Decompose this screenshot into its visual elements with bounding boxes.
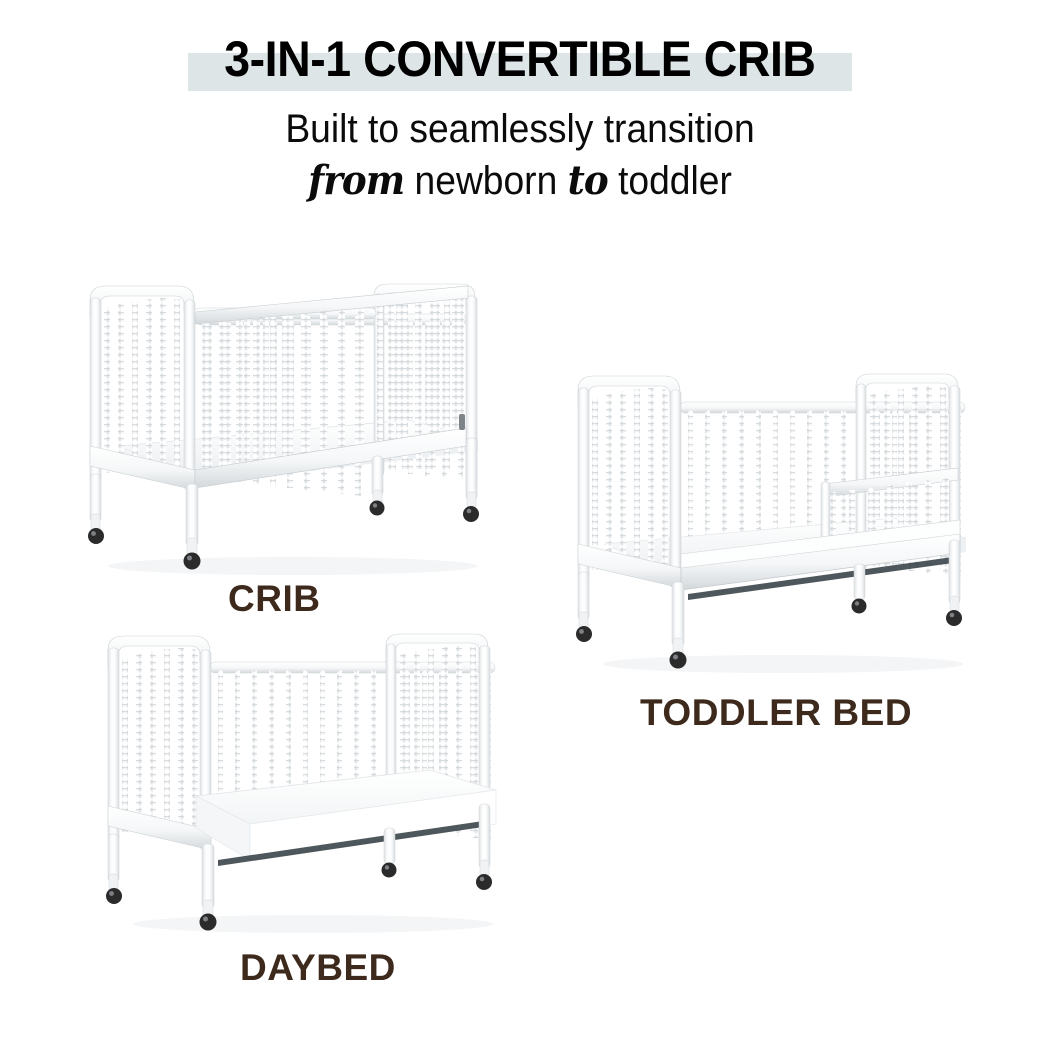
- page-title: 3-IN-1 CONVERTIBLE CRIB: [224, 34, 815, 84]
- product-showcase: CRIB: [0, 0, 1040, 1040]
- caster-wheel: [88, 528, 104, 544]
- product-image-toddler-bed: [568, 368, 998, 678]
- product-image-daybed: [98, 628, 528, 938]
- caption-crib: CRIB: [228, 578, 320, 620]
- caption-toddler-bed: TODDLER BED: [640, 692, 912, 734]
- caption-daybed: DAYBED: [240, 947, 396, 989]
- page-title-wrap: 3-IN-1 CONVERTIBLE CRIB: [202, 34, 838, 84]
- product-image-crib: [78, 278, 508, 578]
